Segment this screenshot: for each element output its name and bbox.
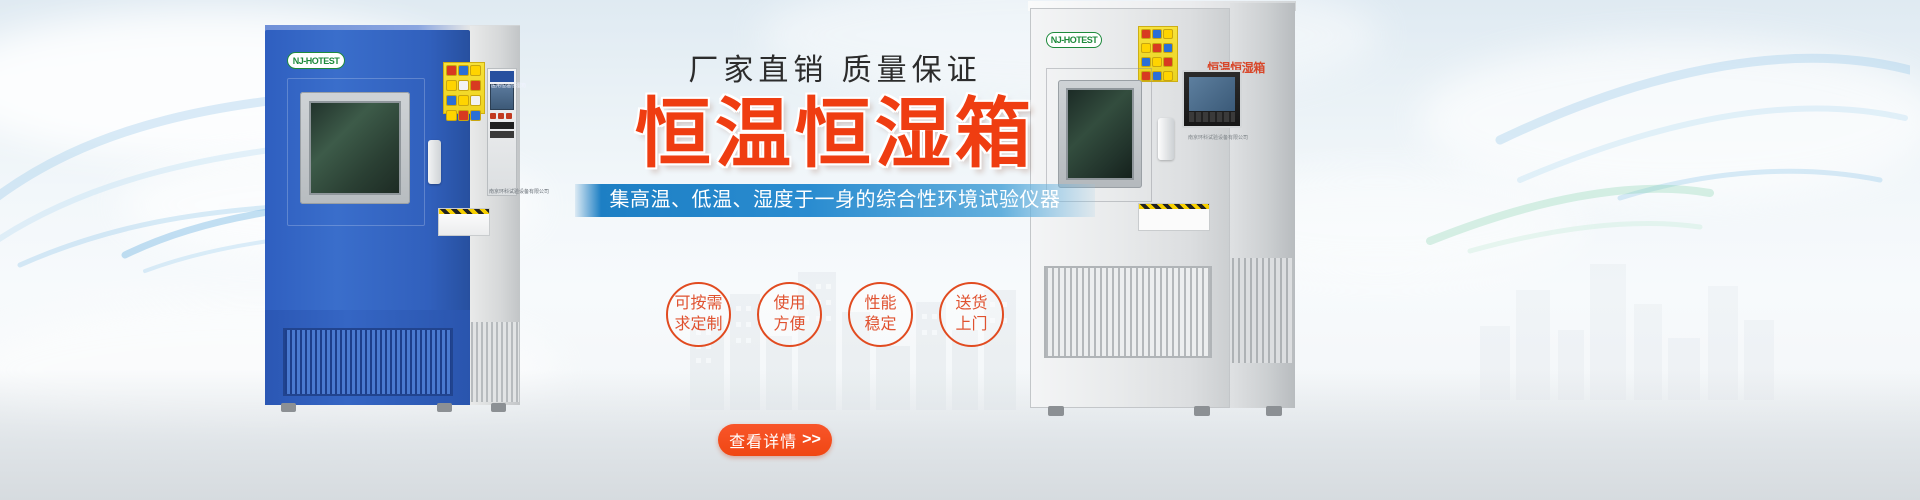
feature-badge-line2: 上门	[955, 315, 987, 335]
machine-left-warning-label	[443, 62, 485, 114]
feature-badge-line1: 送货	[955, 294, 987, 314]
machine-left-info-plate	[438, 208, 490, 236]
machine-left-company-text: 南京环科试验设备有限公司	[489, 188, 549, 195]
promo-banner: NJ-HOTEST 医用恒温恒湿箱 南京环科试验设备有限公司	[0, 0, 1920, 500]
feature-badge[interactable]: 可按需 求定制	[666, 282, 731, 347]
banner-copy-block: 厂家直销 质量保证 恒温恒湿箱 集高温、低温、湿度于一身的综合性环境试验仪器	[575, 52, 1095, 217]
cloud-decoration	[1420, 40, 1920, 200]
machine-right-company-text: 南京环科试验设备有限公司	[1188, 134, 1248, 141]
machine-left-viewing-window	[300, 92, 410, 204]
machine-right-brand-logo: NJ-HOTEST	[1046, 32, 1102, 48]
blue-swoosh-icon	[1480, 30, 1910, 230]
machine-right-side-grill	[1232, 258, 1292, 363]
feature-badge[interactable]: 送货 上门	[939, 282, 1004, 347]
product-image-left-chamber: NJ-HOTEST 医用恒温恒湿箱 南京环科试验设备有限公司	[265, 30, 520, 405]
feature-badge-line1: 可按需	[674, 294, 722, 314]
machine-left-side-grill	[471, 322, 519, 402]
feature-badge[interactable]: 性能 稳定	[848, 282, 913, 347]
feature-badge-line2: 求定制	[674, 315, 722, 335]
banner-subtitle-bar: 集高温、低温、湿度于一身的综合性环境试验仪器	[575, 184, 1095, 217]
green-leaf-icon	[1420, 175, 1720, 255]
machine-left-ventilation-grill	[283, 328, 453, 396]
double-chevron-right-icon: >>	[802, 431, 821, 449]
feature-badge-list: 可按需 求定制 使用 方便 性能 稳定 送货 上门	[575, 282, 1095, 347]
machine-left-brand-logo: NJ-HOTEST	[287, 52, 345, 69]
machine-left-door-handle	[428, 140, 441, 184]
machine-right-control-panel	[1182, 70, 1242, 128]
banner-headline: 恒温恒湿箱	[575, 92, 1095, 177]
machine-right-info-plate	[1138, 203, 1210, 231]
view-details-button[interactable]: 查看详情 >>	[718, 424, 832, 456]
feature-badge-line2: 稳定	[864, 315, 896, 335]
feature-badge-line2: 方便	[773, 315, 805, 335]
city-skyline-decoration	[1480, 230, 1780, 400]
feature-badge-line1: 性能	[864, 294, 896, 314]
banner-tagline: 厂家直销 质量保证	[575, 52, 1095, 90]
machine-right-door-handle	[1158, 118, 1174, 160]
feature-badge-line1: 使用	[773, 294, 805, 314]
machine-left-panel-text: 医用恒温恒湿箱	[491, 82, 526, 89]
view-details-label: 查看详情	[729, 428, 797, 452]
feature-badge[interactable]: 使用 方便	[757, 282, 822, 347]
